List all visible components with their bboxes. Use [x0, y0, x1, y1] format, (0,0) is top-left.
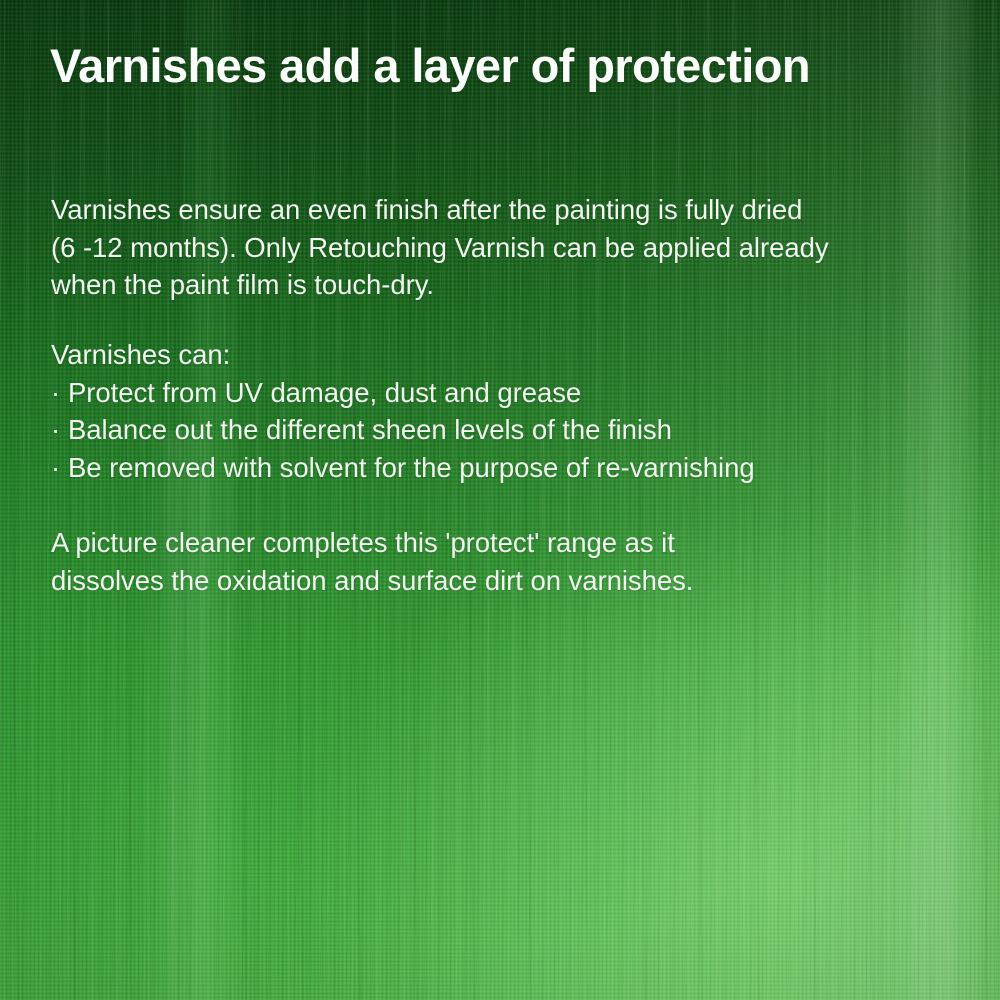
- list-item: ·Balance out the different sheen levels …: [51, 411, 951, 449]
- list-item: ·Be removed with solvent for the purpose…: [51, 449, 951, 487]
- capabilities-heading: Varnishes can:: [51, 339, 230, 370]
- poster-content: Varnishes add a layer of protection Varn…: [0, 0, 1000, 1000]
- list-item-label: Be removed with solvent for the purpose …: [68, 452, 755, 483]
- list-item-label: Protect from UV damage, dust and grease: [68, 377, 581, 408]
- outro-line-1: A picture cleaner completes this 'protec…: [51, 527, 675, 558]
- bullet-dot-icon: ·: [51, 374, 68, 412]
- outro-line-2: dissolves the oxidation and surface dirt…: [51, 565, 693, 596]
- outro-paragraph: A picture cleaner completes this 'protec…: [51, 524, 951, 599]
- varnish-info-poster: Varnishes add a layer of protection Varn…: [0, 0, 1000, 1000]
- intro-line-1: Varnishes ensure an even finish after th…: [51, 194, 802, 225]
- bullet-dot-icon: ·: [51, 449, 68, 487]
- intro-line-2: (6 -12 months). Only Retouching Varnish …: [51, 232, 829, 263]
- bullet-dot-icon: ·: [51, 411, 68, 449]
- page-title: Varnishes add a layer of protection: [50, 38, 970, 94]
- intro-line-3: when the paint film is touch-dry.: [51, 269, 434, 300]
- list-item-label: Balance out the different sheen levels o…: [68, 414, 672, 445]
- capabilities-list: Varnishes can: ·Protect from UV damage, …: [51, 336, 951, 486]
- intro-paragraph: Varnishes ensure an even finish after th…: [51, 191, 951, 304]
- list-item: ·Protect from UV damage, dust and grease: [51, 374, 951, 412]
